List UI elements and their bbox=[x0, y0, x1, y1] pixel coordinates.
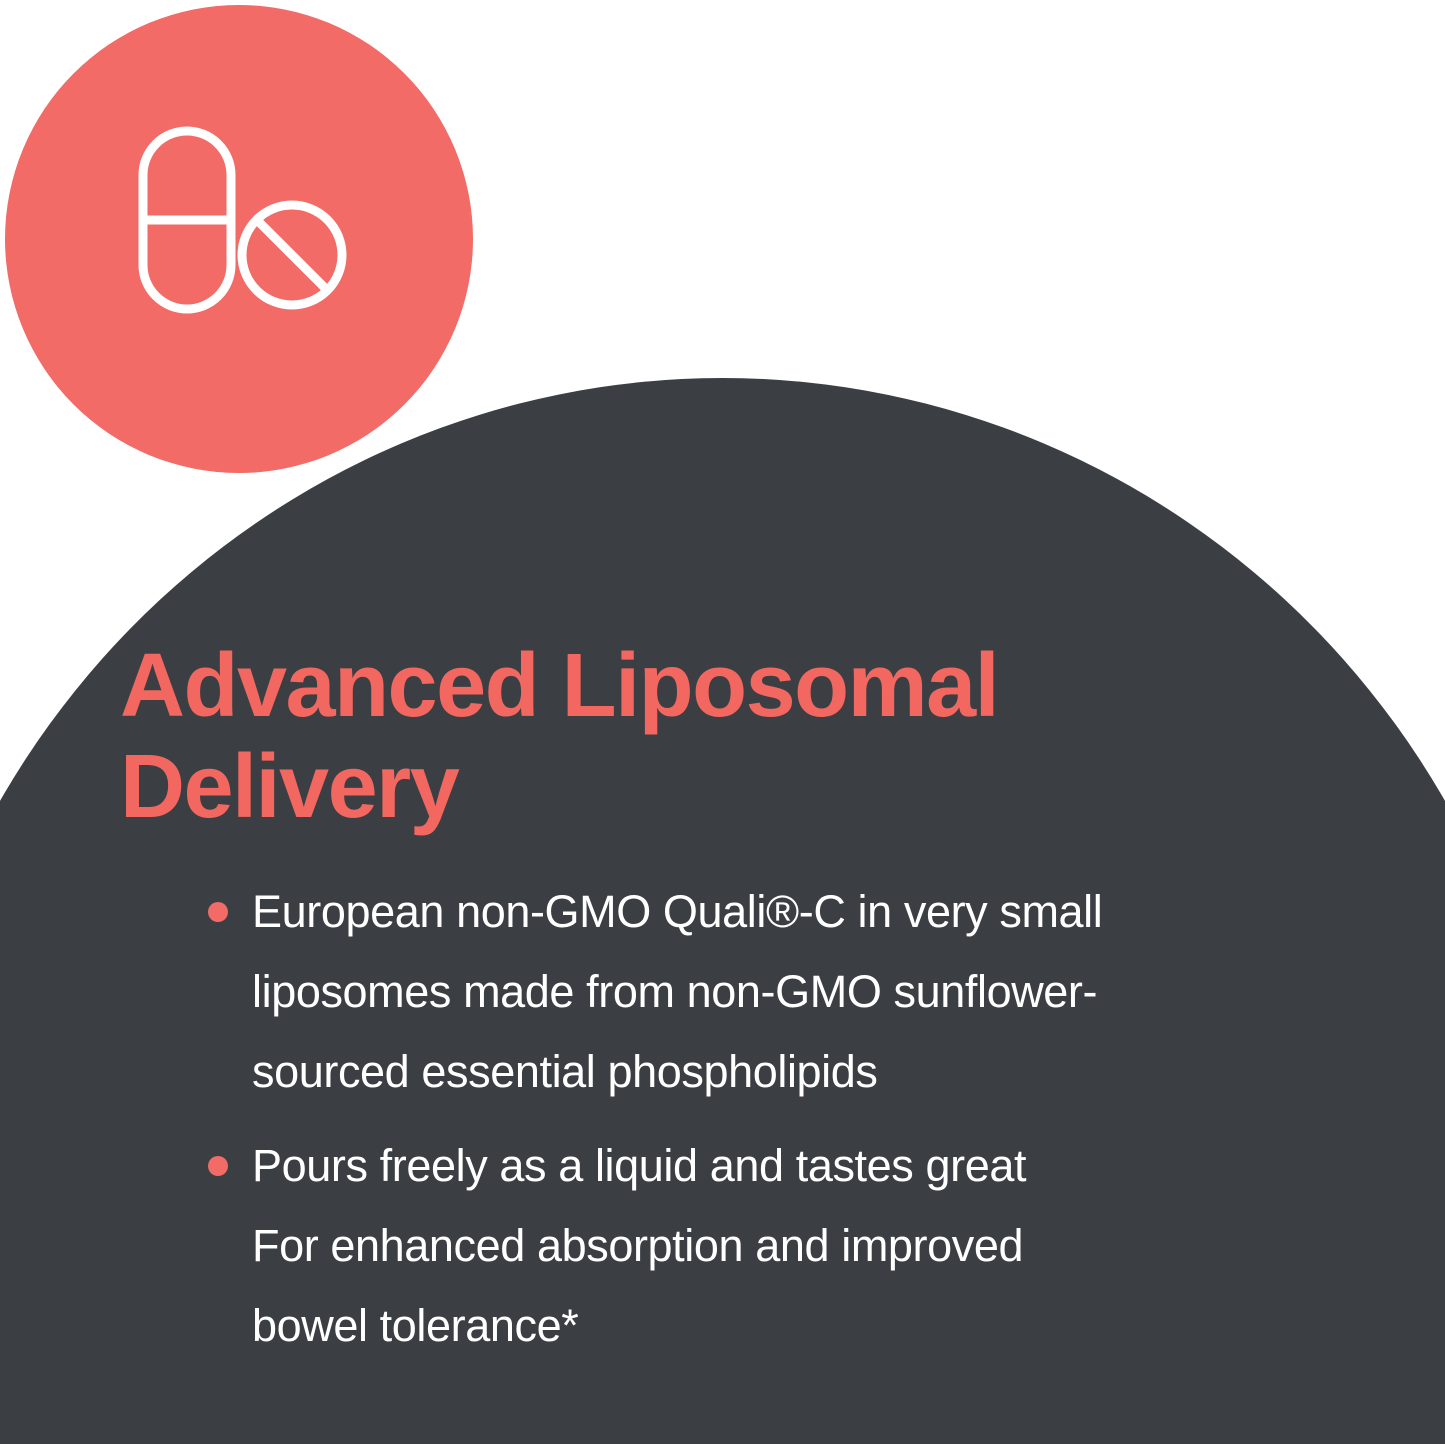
page-title: Advanced Liposomal Delivery bbox=[120, 636, 1120, 838]
list-item: Pours freely as a liquid and tastes grea… bbox=[196, 1126, 1346, 1366]
bullet-dot-icon bbox=[208, 1156, 228, 1176]
bullet-dot-icon bbox=[208, 902, 228, 922]
list-item-label: European non-GMO Quali®-C in very small … bbox=[252, 872, 1346, 1112]
content-panel: Advanced Liposomal Delivery European non… bbox=[0, 0, 1445, 1444]
feature-bullet-list: European non-GMO Quali®-C in very small … bbox=[196, 872, 1346, 1380]
product-feature-card: Advanced Liposomal Delivery European non… bbox=[0, 0, 1445, 1444]
list-item-label: Pours freely as a liquid and tastes grea… bbox=[252, 1126, 1346, 1366]
list-item: European non-GMO Quali®-C in very small … bbox=[196, 872, 1346, 1112]
